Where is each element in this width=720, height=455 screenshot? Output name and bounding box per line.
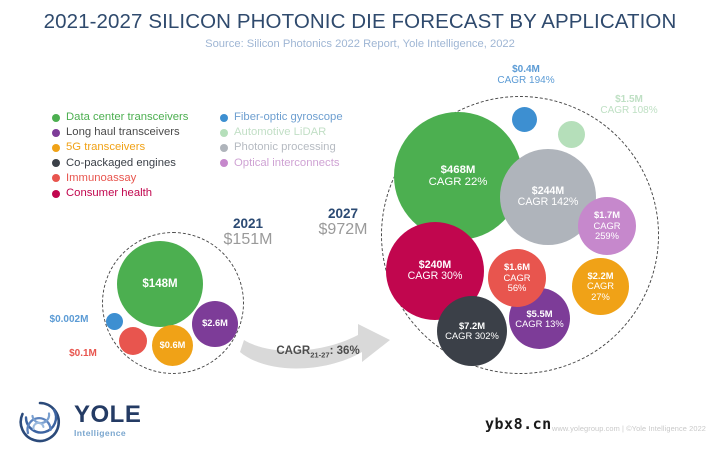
bubble-cagr-pct: 27% [591,292,610,303]
callout-2027-automotive-lidar: $1.5M CAGR 108% [586,94,672,116]
bubble-cagr: CAGR 142% [518,197,579,208]
year-total: $972M [300,221,386,239]
overall-cagr-label: CAGR21-27: 36% [248,345,388,359]
bubble-value: $2.6M [202,319,228,329]
callout-2021-fiber-optic-gyroscope: $0.002M [36,314,102,325]
bubble-cagr: CAGR 13% [515,319,563,329]
legend-item-label: Co-packaged engines [66,158,176,169]
legend-item-label: Long haul transceivers [66,127,180,138]
yole-logo[interactable]: YOLE Intelligence [16,399,216,447]
bubble-cagr: CAGR 22% [429,176,488,188]
cagr-subscript: 21-27 [310,350,329,359]
legend-item-long-haul-transceivers[interactable]: Long haul transceivers [52,125,188,140]
legend-item-immunoassay[interactable]: Immunoassay [52,171,188,186]
cagr-prefix: CAGR [276,345,310,357]
legend-dot-icon [52,174,60,182]
bubble-value: $5.5M [526,309,552,319]
legend-item-label: Photonic processing [234,142,336,153]
legend-item-label: Immunoassay [66,173,136,184]
bubble-value: $0.6M [160,341,186,351]
legend-column-left: Data center transceivers Long haul trans… [52,110,188,201]
legend-item-label: Data center transceivers [66,112,188,123]
year-value: 2021 [208,216,288,231]
callout-cagr: CAGR 108% [586,105,672,116]
legend-dot-icon [220,114,228,122]
callout-2021-immunoassay: $0.1M [54,348,112,359]
infographic-canvas: 2021-2027 SILICON PHOTONIC DIE FORECAST … [0,0,720,455]
bubble-2027-co-packaged-engines[interactable]: $7.2M CAGR 302% [437,296,507,366]
legend-item-optical-interconnects[interactable]: Optical interconnects [220,156,343,171]
bubble-2027-data-center-transceivers[interactable]: $468M CAGR 22% [394,112,522,240]
legend-item-co-packaged-engines[interactable]: Co-packaged engines [52,156,188,171]
year-value: 2027 [300,206,386,221]
bubble-cagr: CAGR 30% [408,271,463,282]
legend-item-label: 5G transceivers [66,142,145,153]
bubble-2021-immunoassay[interactable] [119,327,147,355]
callout-value: $1.5M [586,94,672,105]
copyright-text: www.yolegroup.com | ©Yole Intelligence 2… [552,424,706,433]
callout-cagr: CAGR 194% [486,75,566,86]
bubble-cagr-pct: 56% [508,283,527,294]
legend-item-label: Fiber-optic gyroscope [234,112,343,123]
yole-logo-text: YOLE Intelligence [74,403,141,438]
legend-dot-icon [52,190,60,198]
callout-value: $0.4M [486,64,566,75]
bubble-2027-5g-transceivers[interactable]: $2.2M CAGR 27% [572,258,629,315]
bubble-2027-immunoassay[interactable]: $1.6M CAGR 56% [488,249,546,307]
legend-item-label: Optical interconnects [234,158,340,169]
legend-item-label: Automotive LiDAR [234,127,326,138]
legend-dot-icon [220,144,228,152]
legend-item-label: Consumer health [66,188,152,199]
year-total: $151M [208,231,288,249]
legend-item-consumer-health[interactable]: Consumer health [52,186,188,201]
bubble-2027-optical-interconnects[interactable]: $1.7M CAGR 259% [578,197,636,255]
callout-value: $0.1M [69,348,97,359]
bubble-2027-fiber-optic-gyroscope[interactable] [512,107,537,132]
page-subtitle: Source: Silicon Photonics 2022 Report, Y… [0,38,720,50]
legend-dot-icon [52,114,60,122]
logo-wordmark: YOLE [74,403,141,427]
legend-dot-icon [52,144,60,152]
page-title: 2021-2027 SILICON PHOTONIC DIE FORECAST … [0,10,720,34]
legend-dot-icon [220,159,228,167]
bubble-2021-long-haul-transceivers[interactable]: $2.6M [192,301,238,347]
bubble-2027-automotive-lidar[interactable] [558,121,585,148]
yole-spiral-icon [16,399,64,445]
bubble-2021-5g-transceivers[interactable]: $0.6M [152,325,193,366]
legend-item-5g-transceivers[interactable]: 5G transceivers [52,140,188,155]
legend-dot-icon [52,159,60,167]
cagr-suffix: : 36% [330,345,360,357]
watermark-text: ybx8.cn [485,415,552,433]
legend-dot-icon [52,129,60,137]
bubble-cagr: CAGR 302% [445,331,499,341]
year-label-2021: 2021 $151M [208,216,288,249]
callout-value: $0.002M [50,314,89,325]
legend-dot-icon [220,129,228,137]
bubble-2021-data-center-transceivers[interactable]: $148M [117,241,203,327]
year-label-2027: 2027 $972M [300,206,386,239]
legend-item-data-center-transceivers[interactable]: Data center transceivers [52,110,188,125]
bubble-value: $148M [142,278,177,290]
bubble-2021-fiber-optic-gyroscope[interactable] [106,313,123,330]
logo-tagline: Intelligence [74,428,141,438]
bubble-cagr-pct: 259% [595,231,619,242]
legend-item-photonic-processing[interactable]: Photonic processing [220,140,343,155]
callout-2027-fiber-optic-gyroscope: $0.4M CAGR 194% [486,64,566,86]
bubble-value: $468M [441,164,476,176]
legend-column-right: Fiber-optic gyroscope Automotive LiDAR P… [220,110,343,171]
legend-item-automotive-lidar[interactable]: Automotive LiDAR [220,125,343,140]
legend-item-fiber-optic-gyroscope[interactable]: Fiber-optic gyroscope [220,110,343,125]
